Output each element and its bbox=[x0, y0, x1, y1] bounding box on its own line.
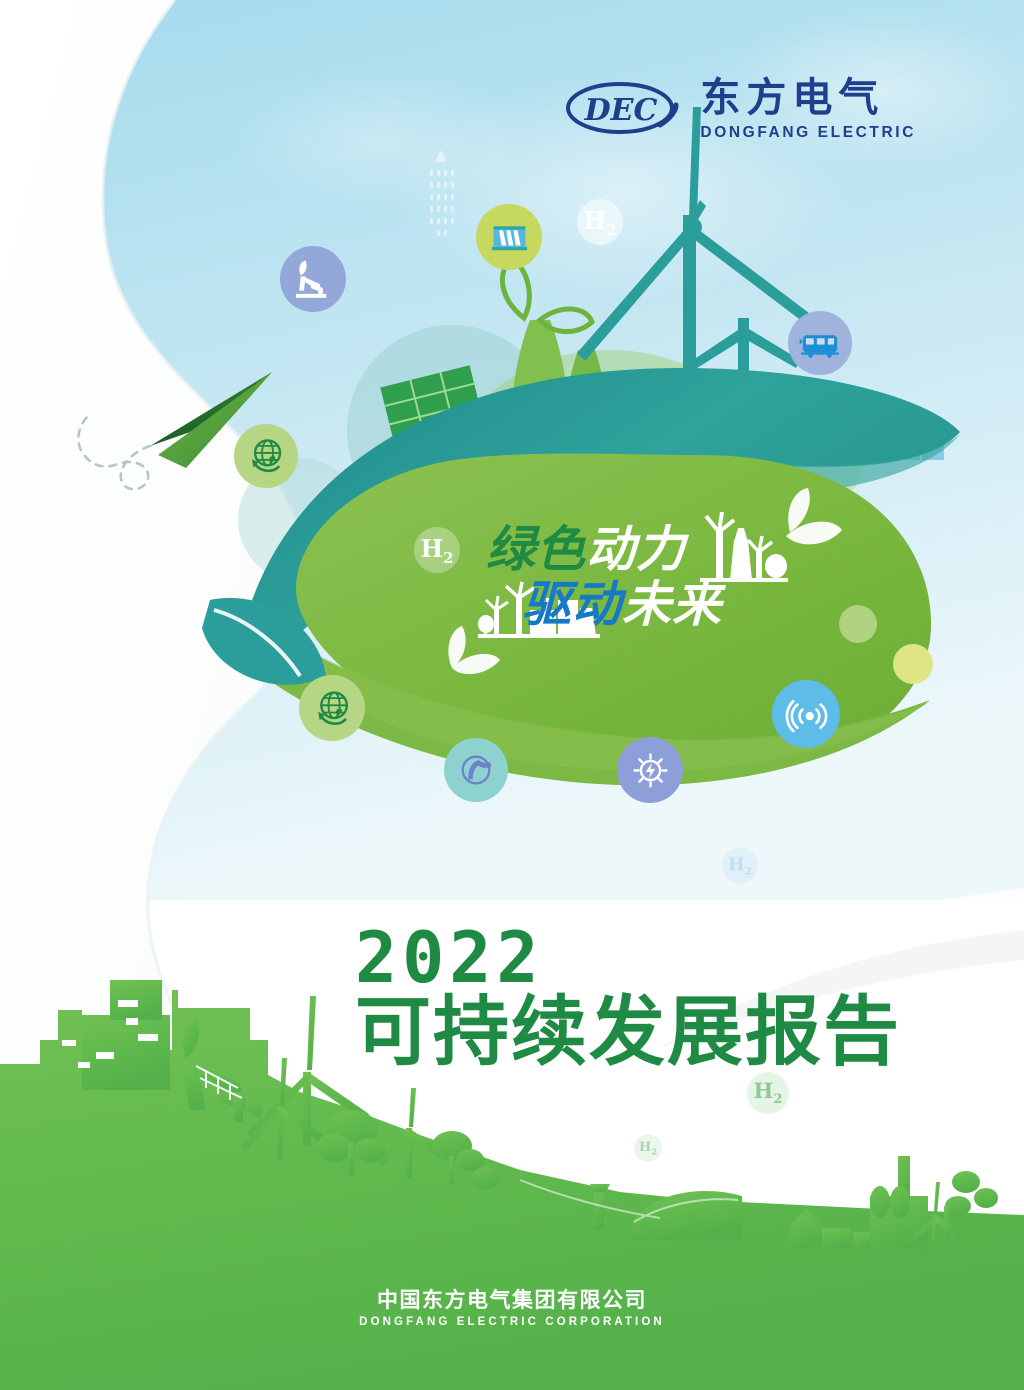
signal-wave-icon bbox=[772, 680, 840, 748]
robot-arm-icon bbox=[444, 738, 508, 802]
decor-dot-yellow bbox=[893, 644, 933, 684]
slogan-line-1: 绿色 动力 bbox=[486, 525, 722, 574]
train-icon bbox=[788, 311, 852, 375]
company-name-en: DONGFANG ELECTRIC CORPORATION bbox=[0, 1316, 1024, 1328]
globe-recycle-icon-a bbox=[234, 424, 298, 488]
slogan-white-text-2: 未来 bbox=[622, 580, 722, 629]
svg-text:DEC: DEC bbox=[584, 93, 658, 128]
hydro-dam-icon bbox=[476, 204, 542, 270]
footer-company-block: 中国东方电气集团有限公司 DONGFANG ELECTRIC CORPORATI… bbox=[0, 1288, 1024, 1328]
brand-name-en: DONGFANG ELECTRIC bbox=[700, 125, 916, 141]
oil-pumpjack-icon bbox=[280, 246, 346, 312]
solar-energy-icon bbox=[617, 737, 683, 803]
company-name-cn: 中国东方电气集团有限公司 bbox=[0, 1288, 1024, 1312]
brand-logo[interactable]: DEC 东方电气 DONGFANG ELECTRIC bbox=[564, 78, 916, 141]
dec-logo-icon: DEC bbox=[564, 81, 682, 137]
report-year: 2022 bbox=[355, 925, 901, 992]
report-title-block: 2022 可持续发展报告 bbox=[355, 925, 901, 1070]
decor-dot-green bbox=[839, 605, 877, 643]
slogan-green-text: 绿色 bbox=[486, 525, 586, 574]
cover-slogan: 绿色 动力 驱动 未来 bbox=[486, 525, 722, 629]
report-title: 可持续发展报告 bbox=[355, 994, 901, 1070]
slogan-blue-text: 驱动 bbox=[522, 580, 622, 629]
report-cover-page: H bbox=[0, 0, 1024, 1390]
brand-name-cn: 东方电气 bbox=[700, 78, 916, 118]
slogan-line-2: 驱动 未来 bbox=[522, 580, 722, 629]
slogan-white-text-1: 动力 bbox=[586, 525, 686, 574]
globe-recycle-icon-b bbox=[299, 675, 365, 741]
